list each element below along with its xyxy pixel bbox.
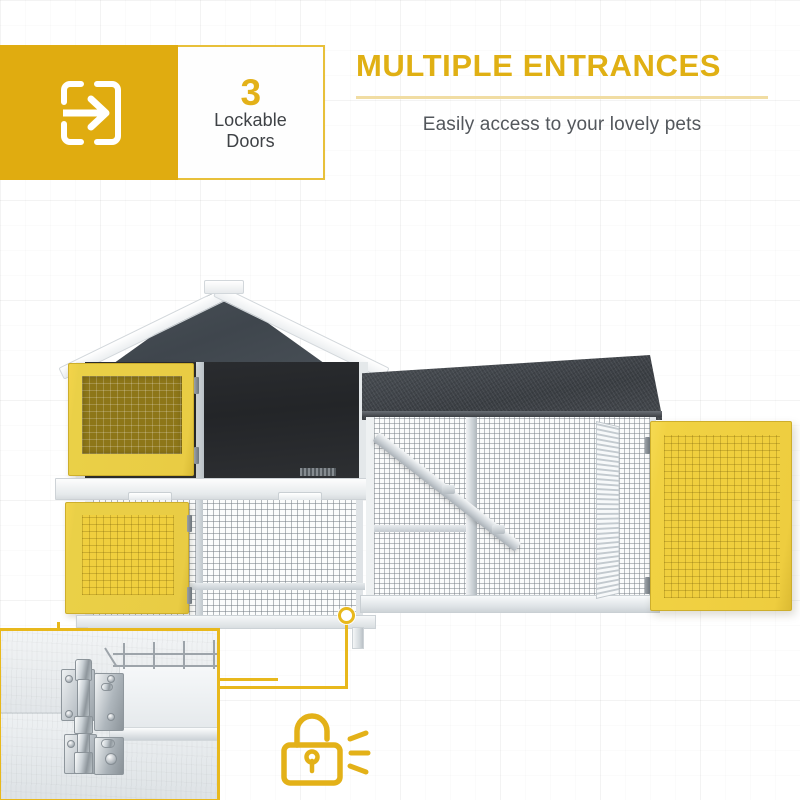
latch-bolt-lever-upper (101, 683, 113, 691)
door-lower-left-mesh (82, 515, 174, 595)
hinge-right-bottom-icon (645, 577, 650, 594)
latch-screw-bottom-left (65, 710, 73, 718)
latch-screw-lower-left (67, 740, 75, 748)
lower-hutch-rail (190, 583, 365, 590)
hinge-lower-top-icon (187, 515, 192, 532)
run-base-rail (360, 595, 660, 613)
inset-frame-sill (109, 727, 220, 741)
hinge-upper-bottom-icon (194, 447, 199, 464)
callout-line-to-inset (218, 678, 278, 681)
inset-frame-block (119, 665, 220, 735)
door-right-mesh (664, 435, 780, 598)
hinge-upper-top-icon (194, 377, 199, 394)
hutch-base-rail (76, 615, 376, 629)
product-illustration (0, 195, 800, 655)
door-upper-left-mesh (82, 376, 182, 454)
callout-line-vertical-right (345, 622, 348, 689)
leg-front-right (352, 627, 364, 649)
gable-roof (48, 250, 388, 375)
callout-marker-dot (338, 607, 355, 624)
latch-bolt-bottom-knob (74, 752, 93, 774)
feature-badge: 3 Lockable Doors (0, 45, 325, 180)
door-upper-left[interactable] (68, 363, 194, 476)
ramp-cleat-lower (492, 525, 505, 534)
roof-ridge-cap (204, 280, 244, 294)
badge-text-card: 3 Lockable Doors (178, 45, 325, 180)
hinge-latch-detail-inset (0, 628, 220, 800)
page-title: MULTIPLE ENTRANCES (356, 50, 776, 83)
badge-count: 3 (240, 75, 260, 110)
louver-panel (596, 421, 619, 599)
hinge-lower-bottom-icon (187, 587, 192, 604)
latch-bolt-mid-collar (74, 716, 93, 734)
page-subtitle: Easily access to your lovely pets (356, 114, 768, 136)
door-lower-left[interactable] (65, 502, 189, 614)
badge-label-line-2: Doors (226, 131, 275, 152)
latch-screw-top-left (65, 675, 73, 683)
badge-label-line-1: Lockable (214, 110, 287, 131)
hinge-right-top-icon (645, 437, 650, 454)
ventilation-strip (300, 468, 336, 476)
inset-wire-post-1 (123, 643, 125, 669)
feature-graphic-page: 3 Lockable Doors MULTIPLE ENTRANCES Easi… (0, 0, 800, 800)
run-inner-rail (374, 525, 466, 532)
lower-hutch-post (196, 500, 203, 618)
inset-wire-rail-2 (113, 665, 220, 667)
header-text-block: MULTIPLE ENTRANCES Easily access to your… (356, 50, 776, 136)
header-divider (356, 96, 768, 99)
open-padlock-icon (271, 705, 379, 796)
ramp-cleat-upper (442, 485, 455, 494)
inset-wire-post-2 (153, 642, 155, 669)
latch-bolt-lever-lower (101, 739, 115, 748)
latch-screw-bracket-mid (107, 713, 115, 721)
latch-screw-bracket-upper (107, 675, 115, 683)
latch-bolt-top-knob (75, 659, 92, 681)
inset-wire-post-3 (183, 641, 185, 669)
pull-out-tray[interactable] (55, 478, 375, 500)
door-right[interactable] (650, 421, 792, 611)
enter-door-arrow-icon (50, 74, 128, 152)
badge-icon-panel (0, 45, 178, 180)
inset-wire-post-4 (213, 640, 215, 669)
latch-bolt-shaft (77, 679, 90, 717)
inset-wire-rail-1 (113, 653, 220, 655)
latch-screw-bracket-lower (105, 753, 117, 765)
